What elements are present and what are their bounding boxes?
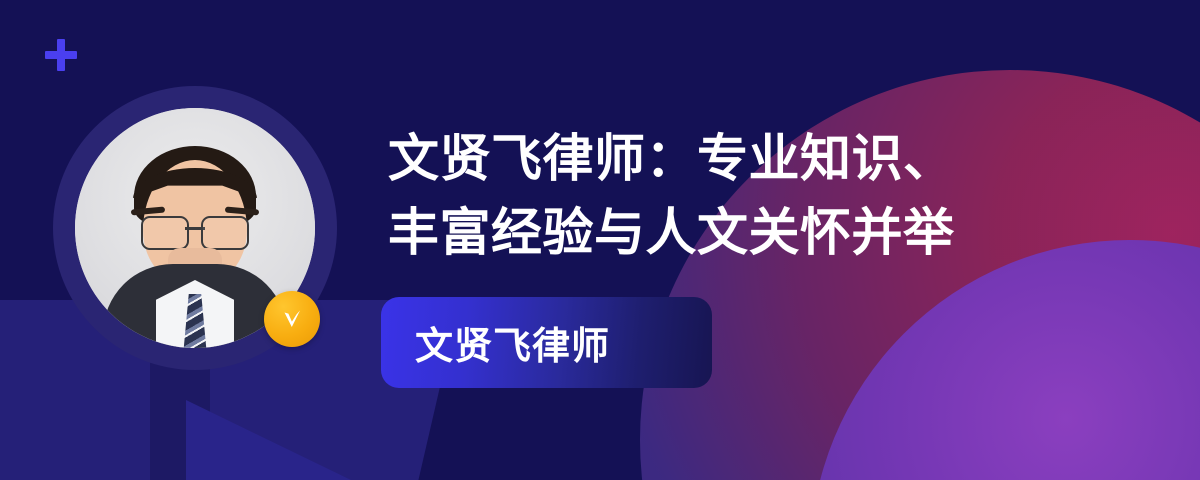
plus-icon xyxy=(45,39,77,71)
headline-line-1: 文贤飞律师：专业知识、 xyxy=(388,122,1108,196)
lawyer-name-label: 文贤飞律师 xyxy=(381,315,610,370)
glasses-lens-left xyxy=(141,216,189,250)
headline-line-2: 丰富经验与人文关怀并举 xyxy=(388,196,1108,270)
lawyer-name-button[interactable]: 文贤飞律师 xyxy=(381,297,712,388)
avatar xyxy=(53,86,337,370)
page-title: 文贤飞律师：专业知识、 丰富经验与人文关怀并举 xyxy=(388,122,1108,271)
glasses-icon xyxy=(141,216,249,246)
promo-banner: 文贤飞律师：专业知识、 丰富经验与人文关怀并举 文贤飞律师 xyxy=(0,0,1200,480)
glasses-lens-right xyxy=(201,216,249,250)
verified-badge-icon xyxy=(264,291,320,347)
